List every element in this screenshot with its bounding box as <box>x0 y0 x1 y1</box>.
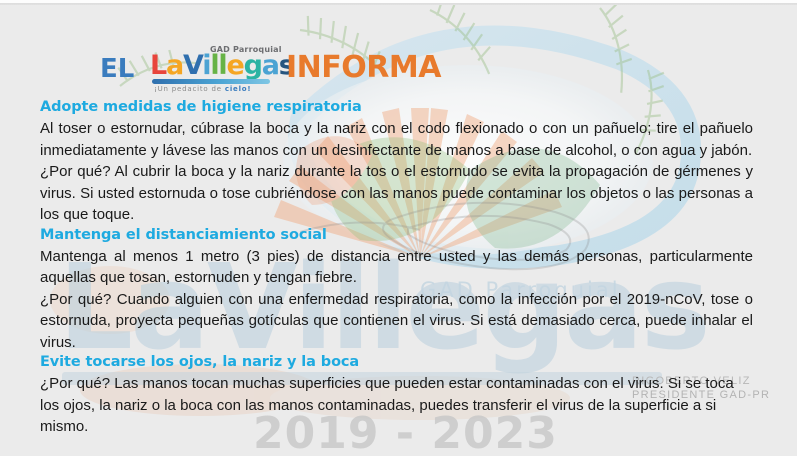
section-2-paragraph-2: ¿Por qué? Cuando alguien con una enferme… <box>40 289 753 354</box>
section-1-paragraph-2: ¿Por qué? Al cubrir la boca y la nariz d… <box>40 161 753 226</box>
section-2-paragraph-1: Mantenga al menos 1 metro (3 pies) de di… <box>40 246 753 289</box>
section-title-2: Mantenga el distanciamiento social <box>40 226 753 245</box>
content-body: Adopte medidas de higiene respiratoria A… <box>40 98 753 438</box>
logo-tagline-accent: cielo! <box>225 85 252 93</box>
header-informa-label: INFORMA <box>286 50 441 85</box>
logo-tagline: ¡Un pedacito de cielo! <box>154 85 251 93</box>
section-title-1: Adopte medidas de higiene respiratoria <box>40 98 753 117</box>
header: EL GAD Parroquial LaVillegas ¡Un pedacit… <box>0 22 797 82</box>
logo-tagline-prefix: ¡Un pedacito de <box>154 85 225 93</box>
header-el-label: EL <box>100 54 134 84</box>
top-border-rule <box>0 0 797 5</box>
slide-page: LaVillegas GAD Parroquial 2019 - 2023 RI… <box>0 0 797 456</box>
section-title-3: Evite tocarse los ojos, la nariz y la bo… <box>40 353 753 372</box>
logo-wordmark: LaVillegas <box>150 52 294 79</box>
section-1-paragraph-1: Al toser o estornudar, cúbrase la boca y… <box>40 118 753 161</box>
lavillegas-logo: GAD Parroquial LaVillegas ¡Un pedacito d… <box>150 45 280 93</box>
section-3-paragraph-1: ¿Por qué? Las manos tocan muchas superfi… <box>40 373 753 438</box>
logo-swoosh <box>152 79 270 84</box>
